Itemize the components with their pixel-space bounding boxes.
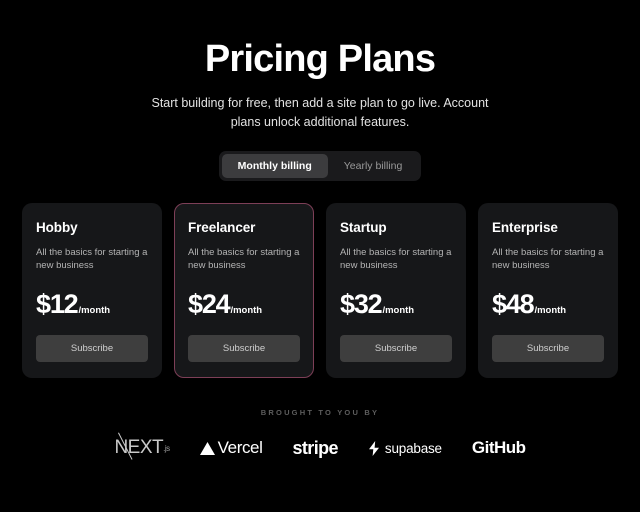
pricing-card-freelancer[interactable]: Freelancer All the basics for starting a… [174, 203, 314, 379]
github-logo-text: GitHub [472, 438, 526, 458]
subscribe-button-startup[interactable]: Subscribe [340, 335, 452, 362]
nextjs-logo-suffix: .js [163, 444, 170, 453]
plan-price-row: $24 /month [188, 291, 300, 318]
pricing-card-hobby[interactable]: Hobby All the basics for starting a new … [22, 203, 162, 379]
plan-period: /month [230, 305, 262, 316]
vercel-logo-text: Vercel [218, 438, 263, 458]
vercel-triangle-icon [200, 442, 215, 455]
plan-description: All the basics for starting a new busine… [492, 246, 604, 274]
stripe-logo: stripe [293, 438, 338, 459]
plan-name: Freelancer [188, 220, 300, 235]
plan-price: $48 [492, 291, 533, 318]
github-logo: GitHub [472, 438, 526, 458]
page-title: Pricing Plans [205, 40, 435, 80]
supabase-bolt-icon [368, 441, 380, 456]
plan-description: All the basics for starting a new busine… [36, 246, 148, 274]
plan-name: Startup [340, 220, 452, 235]
plan-description: All the basics for starting a new busine… [340, 246, 452, 274]
vercel-logo: Vercel [200, 438, 263, 458]
plan-price: $32 [340, 291, 381, 318]
footer-label: BROUGHT TO YOU BY [261, 408, 379, 417]
supabase-logo-text: supabase [385, 441, 442, 456]
plan-price: $12 [36, 291, 77, 318]
plan-price-row: $48 /month [492, 291, 604, 318]
pricing-cards-row: Hobby All the basics for starting a new … [20, 203, 620, 379]
pricing-page: Pricing Plans Start building for free, t… [0, 0, 640, 512]
plan-period: /month [534, 305, 566, 316]
pricing-card-startup[interactable]: Startup All the basics for starting a ne… [326, 203, 466, 379]
footer: BROUGHT TO YOU BY NEXT.js Vercel stripe … [0, 408, 640, 459]
plan-name: Enterprise [492, 220, 604, 235]
page-subtitle: Start building for free, then add a site… [140, 94, 500, 133]
toggle-monthly-billing[interactable]: Monthly billing [222, 154, 328, 178]
supabase-logo: supabase [368, 441, 442, 456]
plan-period: /month [382, 305, 414, 316]
toggle-yearly-billing[interactable]: Yearly billing [328, 154, 419, 178]
nextjs-logo: NEXT.js [114, 437, 169, 459]
plan-name: Hobby [36, 220, 148, 235]
subscribe-button-hobby[interactable]: Subscribe [36, 335, 148, 362]
plan-price-row: $32 /month [340, 291, 452, 318]
plan-price-row: $12 /month [36, 291, 148, 318]
plan-price: $24 [188, 291, 229, 318]
stripe-logo-text: stripe [293, 438, 338, 459]
plan-description: All the basics for starting a new busine… [188, 246, 300, 274]
plan-period: /month [78, 305, 110, 316]
billing-toggle[interactable]: Monthly billing Yearly billing [219, 151, 422, 181]
pricing-card-enterprise[interactable]: Enterprise All the basics for starting a… [478, 203, 618, 379]
partner-logos-row: NEXT.js Vercel stripe supabase GitHub [114, 437, 525, 459]
subscribe-button-freelancer[interactable]: Subscribe [188, 335, 300, 362]
subscribe-button-enterprise[interactable]: Subscribe [492, 335, 604, 362]
